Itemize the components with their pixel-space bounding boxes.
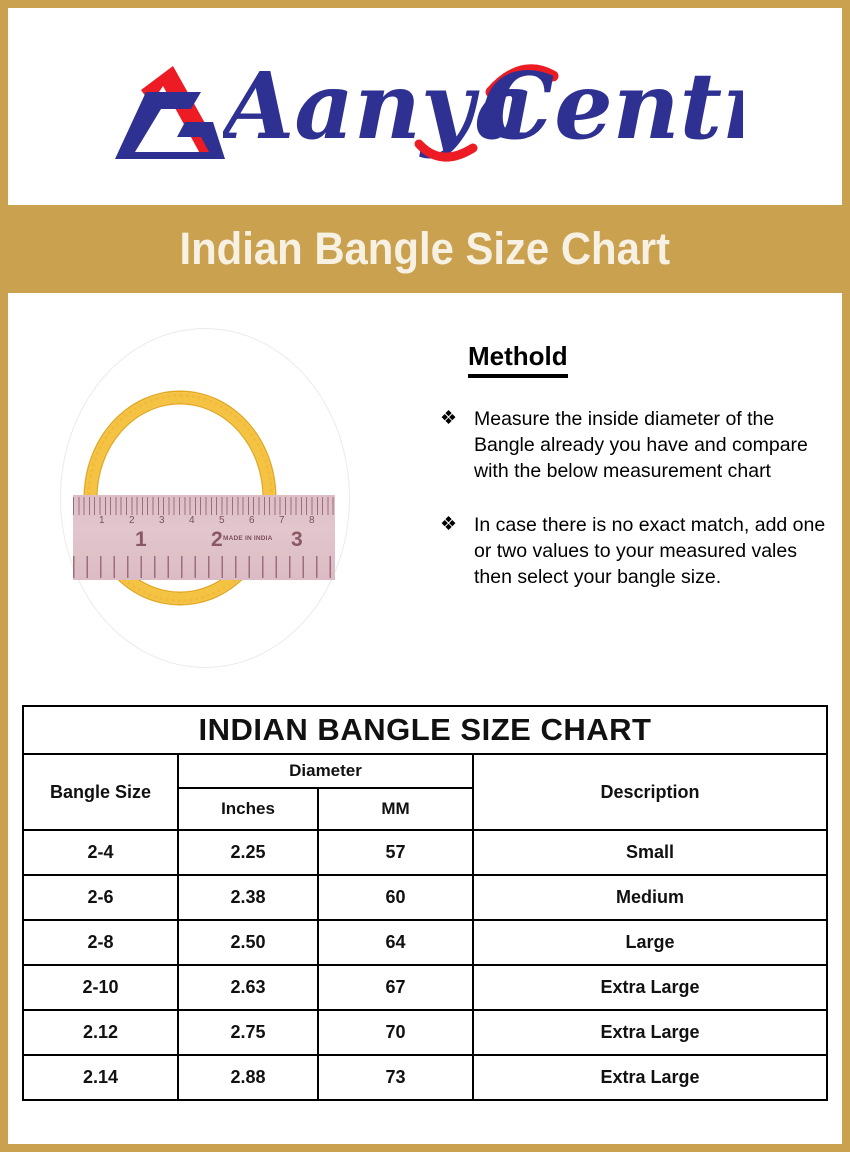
table-row: 2.14 2.88 73 Extra Large xyxy=(23,1055,827,1100)
method-bullet-item: ❖ Measure the inside diameter of the Ban… xyxy=(440,406,840,484)
method-bullet-text: In case there is no exact match, add one… xyxy=(474,512,826,590)
table-title-row: INDIAN BANGLE SIZE CHART xyxy=(23,706,827,754)
cell-bangle-size: 2.14 xyxy=(23,1055,178,1100)
method-bullet-item: ❖ In case there is no exact match, add o… xyxy=(440,512,840,590)
table-title: INDIAN BANGLE SIZE CHART xyxy=(23,706,827,754)
diamond-bullet-icon: ❖ xyxy=(440,406,474,432)
method-bullet-list: ❖ Measure the inside diameter of the Ban… xyxy=(440,406,840,590)
ruler-image: 1 2 3 4 5 6 7 8 1 2 3 MADE IN INDIA xyxy=(73,495,335,580)
ruler-inch-2: 2 xyxy=(211,528,223,552)
ruler-cm-5: 5 xyxy=(219,515,225,526)
column-header-bangle-size: Bangle Size xyxy=(23,754,178,830)
aanyacentric-triangle-logo-icon xyxy=(113,64,228,164)
cell-mm: 67 xyxy=(318,965,473,1010)
column-header-description: Description xyxy=(473,754,827,830)
cell-description: Medium xyxy=(473,875,827,920)
page-title: Indian Bangle Size Chart xyxy=(180,223,671,275)
bangle-size-chart-page: Aanya Centric Indian Bangle Size Chart 1… xyxy=(0,0,850,1152)
cell-bangle-size: 2-10 xyxy=(23,965,178,1010)
brand-name-centric: Centric xyxy=(481,52,743,160)
logo-band: Aanya Centric xyxy=(8,8,842,205)
ruler-cm-3: 3 xyxy=(159,515,165,526)
cell-description: Extra Large xyxy=(473,1010,827,1055)
cell-inches: 2.50 xyxy=(178,920,318,965)
method-heading: Methold xyxy=(468,341,568,378)
bangle-measurement-photo: 1 2 3 4 5 6 7 8 1 2 3 MADE IN INDIA xyxy=(30,310,380,685)
cell-inches: 2.25 xyxy=(178,830,318,875)
size-chart-table: INDIAN BANGLE SIZE CHART Bangle Size Dia… xyxy=(22,705,828,1101)
ruler-made-in-india-text: MADE IN INDIA xyxy=(223,535,273,542)
cell-description: Extra Large xyxy=(473,965,827,1010)
table-row: 2-6 2.38 60 Medium xyxy=(23,875,827,920)
cell-bangle-size: 2.12 xyxy=(23,1010,178,1055)
cell-inches: 2.88 xyxy=(178,1055,318,1100)
ruler-cm-2: 2 xyxy=(129,515,135,526)
column-group-header-diameter: Diameter xyxy=(178,754,473,788)
table-header-row-1: Bangle Size Diameter Description xyxy=(23,754,827,788)
cell-mm: 57 xyxy=(318,830,473,875)
brand-wordmark: Aanya Centric xyxy=(223,52,743,170)
table-row: 2-4 2.25 57 Small xyxy=(23,830,827,875)
cell-description: Large xyxy=(473,920,827,965)
ruler-cm-6: 6 xyxy=(249,515,255,526)
column-header-mm: MM xyxy=(318,788,473,830)
cell-inches: 2.75 xyxy=(178,1010,318,1055)
ruler-inch-3: 3 xyxy=(291,528,303,552)
cell-bangle-size: 2-8 xyxy=(23,920,178,965)
page-title-banner: Indian Bangle Size Chart xyxy=(8,205,842,293)
cell-inches: 2.63 xyxy=(178,965,318,1010)
ruler-cm-labels: 1 2 3 4 5 6 7 8 xyxy=(73,515,335,529)
table-row: 2-8 2.50 64 Large xyxy=(23,920,827,965)
ruler-cm-7: 7 xyxy=(279,515,285,526)
cell-inches: 2.38 xyxy=(178,875,318,920)
ruler-cm-8: 8 xyxy=(309,515,315,526)
cell-mm: 70 xyxy=(318,1010,473,1055)
cell-mm: 73 xyxy=(318,1055,473,1100)
ruler-inch-labels: 1 2 3 xyxy=(73,528,335,554)
ruler-inch-ticks xyxy=(73,556,335,578)
cell-bangle-size: 2-6 xyxy=(23,875,178,920)
cell-mm: 60 xyxy=(318,875,473,920)
table-row: 2.12 2.75 70 Extra Large xyxy=(23,1010,827,1055)
column-header-inches: Inches xyxy=(178,788,318,830)
ruler-cm-4: 4 xyxy=(189,515,195,526)
cell-mm: 64 xyxy=(318,920,473,965)
cell-description: Extra Large xyxy=(473,1055,827,1100)
content-panel: 1 2 3 4 5 6 7 8 1 2 3 MADE IN INDIA xyxy=(8,293,842,1144)
diamond-bullet-icon: ❖ xyxy=(440,512,474,538)
method-bullet-text: Measure the inside diameter of the Bangl… xyxy=(474,406,826,484)
table-row: 2-10 2.63 67 Extra Large xyxy=(23,965,827,1010)
ruler-mm-ticks xyxy=(73,497,335,515)
cell-description: Small xyxy=(473,830,827,875)
ruler-cm-1: 1 xyxy=(99,515,105,526)
cell-bangle-size: 2-4 xyxy=(23,830,178,875)
brand-logo: Aanya Centric xyxy=(113,58,733,168)
ruler-inch-1: 1 xyxy=(135,528,147,552)
size-chart-table-wrapper: INDIAN BANGLE SIZE CHART Bangle Size Dia… xyxy=(22,705,828,1101)
method-section: Methold ❖ Measure the inside diameter of… xyxy=(440,341,840,618)
